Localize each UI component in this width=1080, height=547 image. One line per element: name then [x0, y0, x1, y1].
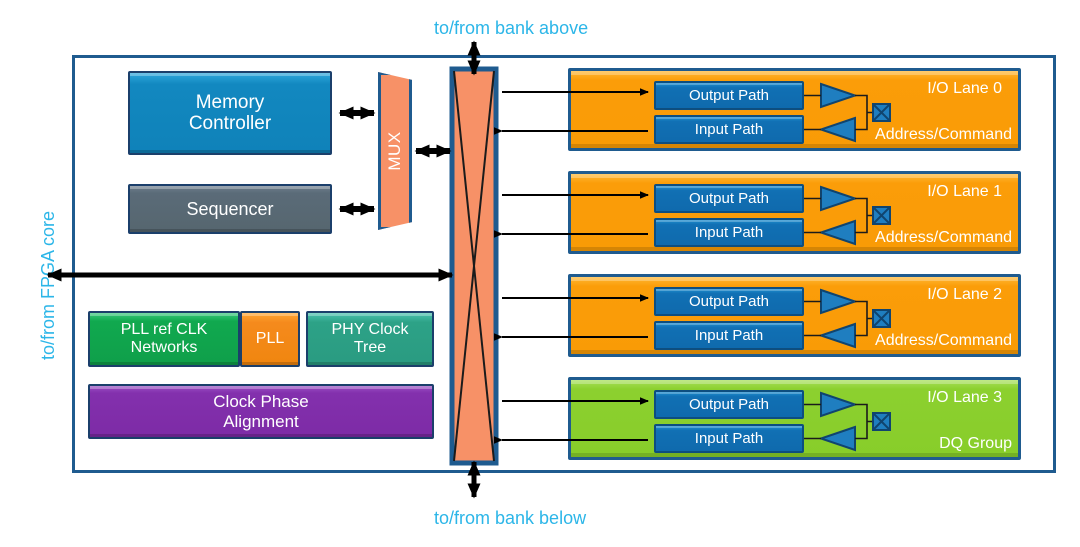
output-path-label-1: Output Path	[689, 190, 769, 207]
mux-label: MUX	[385, 131, 405, 170]
phy-clock-tree-block[interactable]: PHY ClockTree	[306, 311, 434, 367]
io-lane-name-2: I/O Lane 2	[927, 286, 1002, 304]
input-path-label-1: Input Path	[695, 224, 763, 241]
crossbar-block[interactable]	[447, 66, 501, 466]
input-path-block-1[interactable]: Input Path	[654, 218, 804, 247]
mux-block[interactable]: MUX	[378, 72, 412, 230]
io-pad-3	[872, 412, 891, 431]
io-pad-0	[872, 103, 891, 122]
caption-bank-above: to/from bank above	[434, 18, 588, 39]
io-lane-2[interactable]: Output Path Input Path I/O Lane 2 Addres…	[568, 274, 1021, 357]
output-path-label-2: Output Path	[689, 293, 769, 310]
input-path-block-3[interactable]: Input Path	[654, 424, 804, 453]
clock-phase-alignment-block[interactable]: Clock PhaseAlignment	[88, 384, 434, 439]
pll-ref-clk-networks-label: PLL ref CLKNetworks	[121, 321, 208, 357]
io-lane-group-2: Address/Command	[875, 332, 1012, 350]
input-path-label-2: Input Path	[695, 327, 763, 344]
caption-fpga-core: to/from FPGA core	[38, 211, 59, 360]
io-lane-group-3: DQ Group	[939, 435, 1012, 453]
phy-clock-tree-label: PHY ClockTree	[331, 321, 408, 357]
io-lane-group-0: Address/Command	[875, 126, 1012, 144]
output-path-block-0[interactable]: Output Path	[654, 81, 804, 110]
memory-controller-label: MemoryController	[189, 92, 271, 135]
crossbar-shape	[447, 66, 501, 466]
pll-block[interactable]: PLL	[240, 311, 300, 367]
io-lane-name-3: I/O Lane 3	[927, 389, 1002, 407]
io-lane-name-0: I/O Lane 0	[927, 80, 1002, 98]
io-lane-group-1: Address/Command	[875, 229, 1012, 247]
output-path-label-0: Output Path	[689, 87, 769, 104]
io-pad-2	[872, 309, 891, 328]
clock-phase-alignment-label: Clock PhaseAlignment	[213, 392, 308, 430]
pll-ref-clk-networks-block[interactable]: PLL ref CLKNetworks	[88, 311, 240, 367]
pll-label: PLL	[256, 330, 284, 348]
io-lane-1[interactable]: Output Path Input Path I/O Lane 1 Addres…	[568, 171, 1021, 254]
io-pad-1	[872, 206, 891, 225]
io-lane-name-1: I/O Lane 1	[927, 183, 1002, 201]
input-path-label-0: Input Path	[695, 121, 763, 138]
input-path-block-0[interactable]: Input Path	[654, 115, 804, 144]
sequencer-label: Sequencer	[186, 199, 273, 219]
output-path-block-2[interactable]: Output Path	[654, 287, 804, 316]
io-lane-3[interactable]: Output Path Input Path I/O Lane 3 DQ Gro…	[568, 377, 1021, 460]
diagram-canvas: to/from bank above to/from bank below to…	[0, 0, 1080, 547]
output-path-block-3[interactable]: Output Path	[654, 390, 804, 419]
memory-controller-block[interactable]: MemoryController	[128, 71, 332, 155]
sequencer-block[interactable]: Sequencer	[128, 184, 332, 234]
input-path-label-3: Input Path	[695, 430, 763, 447]
output-path-block-1[interactable]: Output Path	[654, 184, 804, 213]
output-path-label-3: Output Path	[689, 396, 769, 413]
caption-bank-below: to/from bank below	[434, 508, 586, 529]
input-path-block-2[interactable]: Input Path	[654, 321, 804, 350]
io-lane-0[interactable]: Output Path Input Path I/O Lane 0 Addres…	[568, 68, 1021, 151]
